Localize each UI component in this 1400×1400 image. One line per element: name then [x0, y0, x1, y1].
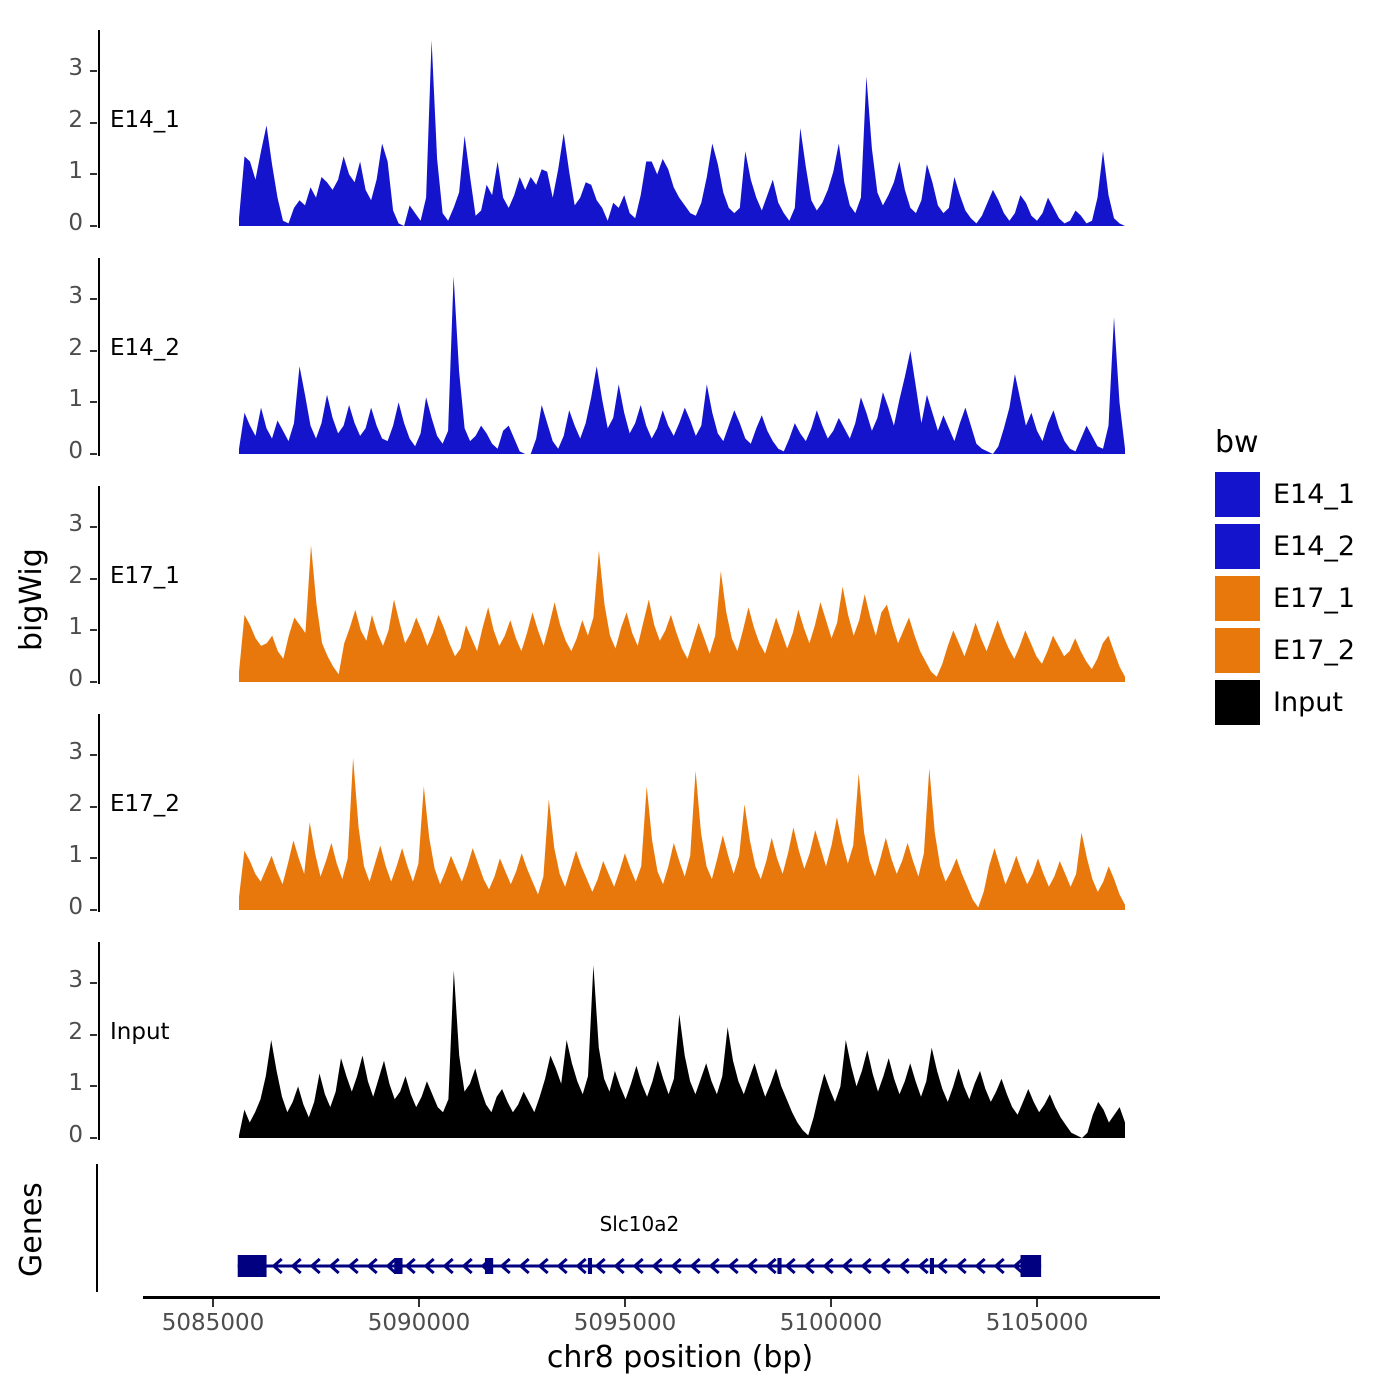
- x-tick-label: 5090000: [329, 1310, 509, 1336]
- bigwig-panel-e17_1: 0123E17_1: [0, 486, 1200, 684]
- gene-exon: [394, 1258, 402, 1274]
- legend-key-e17_2[interactable]: [1215, 628, 1260, 673]
- x-tick-label: 5105000: [947, 1310, 1127, 1336]
- legend-label-e14_2: E14_2: [1273, 531, 1355, 562]
- x-tick-label: 5095000: [535, 1310, 715, 1336]
- legend-key-input[interactable]: [1215, 680, 1260, 725]
- coverage-polygon: [239, 545, 1125, 682]
- gene-exon: [238, 1255, 267, 1277]
- plot-root: bigWig Genes 0123E14_10123E14_20123E17_1…: [0, 0, 1400, 1400]
- bigwig-panel-e17_2: 0123E17_2: [0, 714, 1200, 912]
- coverage-area-e17_1: [0, 486, 1200, 684]
- bigwig-panel-e14_2: 0123E14_2: [0, 258, 1200, 456]
- gene-exon: [930, 1258, 934, 1274]
- gene-model[interactable]: Slc10a2: [0, 1160, 1160, 1300]
- legend-key-e14_2[interactable]: [1215, 524, 1260, 569]
- gene-exon: [777, 1258, 781, 1274]
- x-tick-mark: [1036, 1299, 1038, 1307]
- legend-key-e17_1[interactable]: [1215, 576, 1260, 621]
- gene-exon: [588, 1258, 592, 1274]
- legend: bw E14_1E14_2E17_1E17_2Input: [1205, 425, 1395, 705]
- x-tick-mark: [212, 1299, 214, 1307]
- x-tick-mark: [624, 1299, 626, 1307]
- x-tick-label: 5085000: [123, 1310, 303, 1336]
- coverage-area-e14_1: [0, 30, 1200, 228]
- coverage-polygon: [239, 965, 1125, 1138]
- gene-exon: [485, 1258, 493, 1274]
- x-axis-title: chr8 position (bp): [300, 1340, 1060, 1375]
- coverage-polygon: [239, 40, 1125, 226]
- x-tick-mark: [830, 1299, 832, 1307]
- x-tick-mark: [418, 1299, 420, 1307]
- x-tick-label: 5100000: [741, 1310, 921, 1336]
- legend-label-e17_1: E17_1: [1273, 583, 1355, 614]
- legend-label-e17_2: E17_2: [1273, 635, 1355, 666]
- coverage-area-e14_2: [0, 258, 1200, 456]
- coverage-area-e17_2: [0, 714, 1200, 912]
- coverage-area-input: [0, 942, 1200, 1140]
- gene-name-label: Slc10a2: [539, 1212, 739, 1236]
- legend-label-e14_1: E14_1: [1273, 479, 1355, 510]
- bigwig-panel-e14_1: 0123E14_1: [0, 30, 1200, 228]
- legend-label-input: Input: [1273, 687, 1343, 718]
- genes-panel: Slc10a2: [0, 1160, 1160, 1300]
- gene-exon: [1021, 1255, 1042, 1277]
- bigwig-panel-input: 0123Input: [0, 942, 1200, 1140]
- x-axis: 50850005090000509500051000005105000: [0, 1296, 1400, 1346]
- legend-title: bw: [1215, 425, 1259, 460]
- coverage-polygon: [239, 276, 1125, 454]
- legend-key-e14_1[interactable]: [1215, 472, 1260, 517]
- coverage-polygon: [239, 758, 1125, 910]
- x-axis-line: [143, 1296, 1160, 1299]
